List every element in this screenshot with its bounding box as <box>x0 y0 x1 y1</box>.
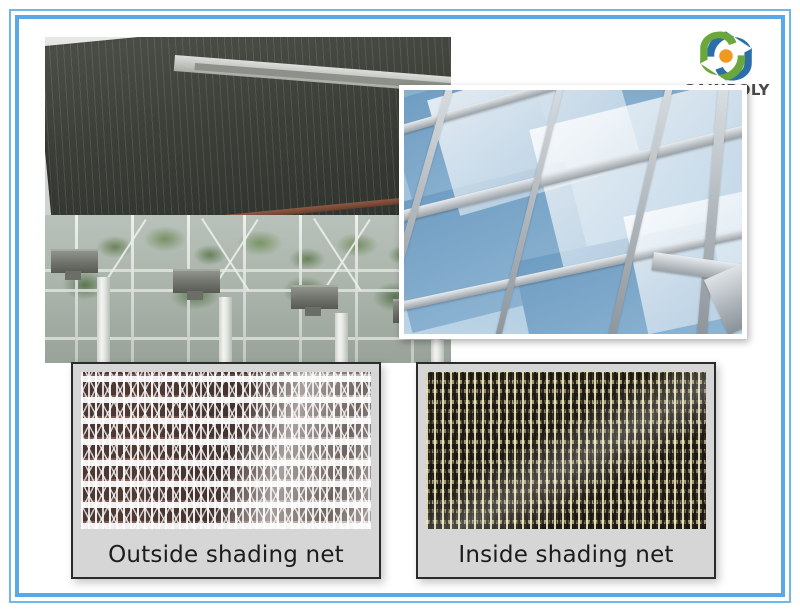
outside-shading-net-image <box>81 372 371 529</box>
outside-net-gloss <box>81 372 371 529</box>
product-image-slide: SAINPOLY <box>0 0 800 612</box>
inside-net-gloss <box>426 372 706 529</box>
greenhouse-interior-photo <box>399 85 747 339</box>
interior-roof-view <box>404 90 742 334</box>
outside-shading-net-caption: Outside shading net <box>81 529 371 581</box>
swirl-logo-icon <box>695 29 757 83</box>
outside-shading-net-card[interactable]: Outside shading net <box>71 362 381 579</box>
inside-shading-net-caption: Inside shading net <box>426 529 706 581</box>
greenhouse-exterior-photo <box>45 37 451 363</box>
inside-shading-net-image <box>426 372 706 529</box>
slide-canvas: SAINPOLY <box>21 21 779 591</box>
inside-shading-net-card[interactable]: Inside shading net <box>416 362 716 579</box>
